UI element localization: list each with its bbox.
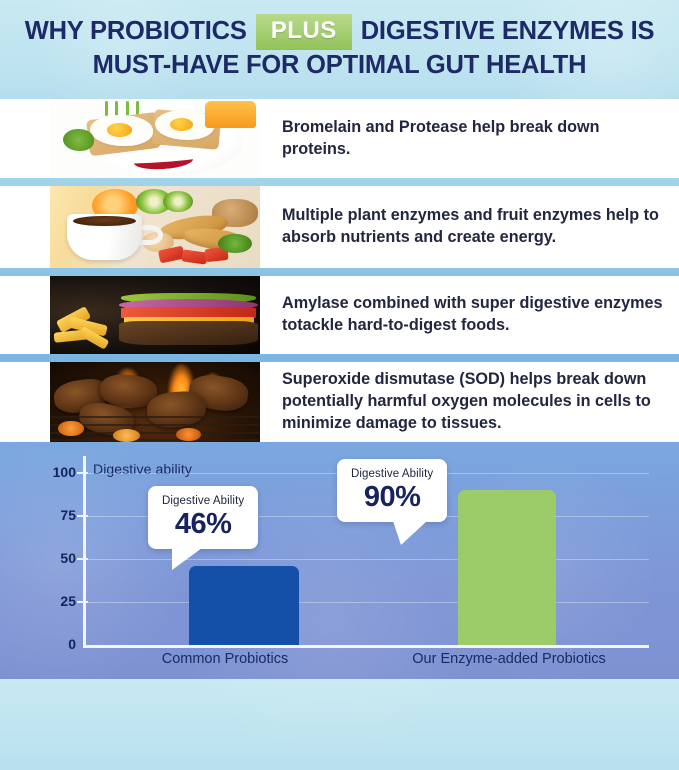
feature-thumbnail-grilled-steaks <box>50 362 260 442</box>
digestive-ability-bar-chart: Digestive ability 0255075100 Common Prob… <box>0 452 679 679</box>
feature-row-text: Superoxide dismutase (SOD) helps break d… <box>260 362 679 442</box>
feature-row: Bromelain and Protease help break down p… <box>0 99 679 178</box>
x-axis-label-common-probiotics: Common Probiotics <box>86 651 364 667</box>
feature-row-text: Bromelain and Protease help break down p… <box>260 99 679 178</box>
chart-y-tick-label: 50 <box>44 550 76 566</box>
callout-enzyme-added-probiotics: Digestive Ability 90% <box>337 459 447 522</box>
bar-common-probiotics <box>189 566 299 645</box>
callout-tail <box>393 521 427 545</box>
callout-value: 46% <box>162 508 244 541</box>
feature-row: Multiple plant enzymes and fruit enzymes… <box>0 186 679 268</box>
feature-row-list: Bromelain and Protease help break down p… <box>0 99 679 442</box>
chart-x-axis <box>83 645 649 648</box>
chart-y-tick-label: 100 <box>44 464 76 480</box>
header-banner: WHY PROBIOTICS PLUS DIGESTIVE ENZYMES IS… <box>0 0 679 95</box>
chart-y-tick-label: 75 <box>44 507 76 523</box>
callout-label: Digestive Ability <box>162 495 244 507</box>
feature-thumbnail-hamburger <box>50 276 260 354</box>
headline-text-after-badge: DIGESTIVE ENZYMES IS <box>361 16 655 47</box>
bar-enzyme-added-probiotics <box>458 490 556 645</box>
chart-y-axis-labels: 0255075100 <box>36 452 76 648</box>
callout-label: Digestive Ability <box>351 468 433 480</box>
chart-y-tick-label: 0 <box>44 636 76 652</box>
headline-text-before-badge: WHY PROBIOTICS <box>25 16 247 47</box>
headline-line-1: WHY PROBIOTICS PLUS DIGESTIVE ENZYMES IS <box>25 14 655 49</box>
feature-row: Superoxide dismutase (SOD) helps break d… <box>0 362 679 442</box>
plus-badge: PLUS <box>256 14 352 49</box>
feature-thumbnail-coffee-croissant <box>50 186 260 268</box>
callout-common-probiotics: Digestive Ability 46% <box>148 486 258 549</box>
feature-row-text: Multiple plant enzymes and fruit enzymes… <box>260 186 679 268</box>
feature-row: Amylase combined with super digestive en… <box>0 276 679 354</box>
x-axis-label-enzyme-added-probiotics: Our Enzyme-added Probiotics <box>364 651 654 667</box>
callout-tail <box>172 548 202 570</box>
headline-line-2: MUST-HAVE FOR OPTIMAL GUT HEALTH <box>93 50 587 81</box>
feature-row-text: Amylase combined with super digestive en… <box>260 276 679 354</box>
headline-line-2-text: MUST-HAVE FOR OPTIMAL GUT HEALTH <box>93 50 587 81</box>
callout-value: 90% <box>351 481 433 514</box>
chart-y-tick-label: 25 <box>44 593 76 609</box>
feature-thumbnail-fried-eggs <box>50 99 260 178</box>
